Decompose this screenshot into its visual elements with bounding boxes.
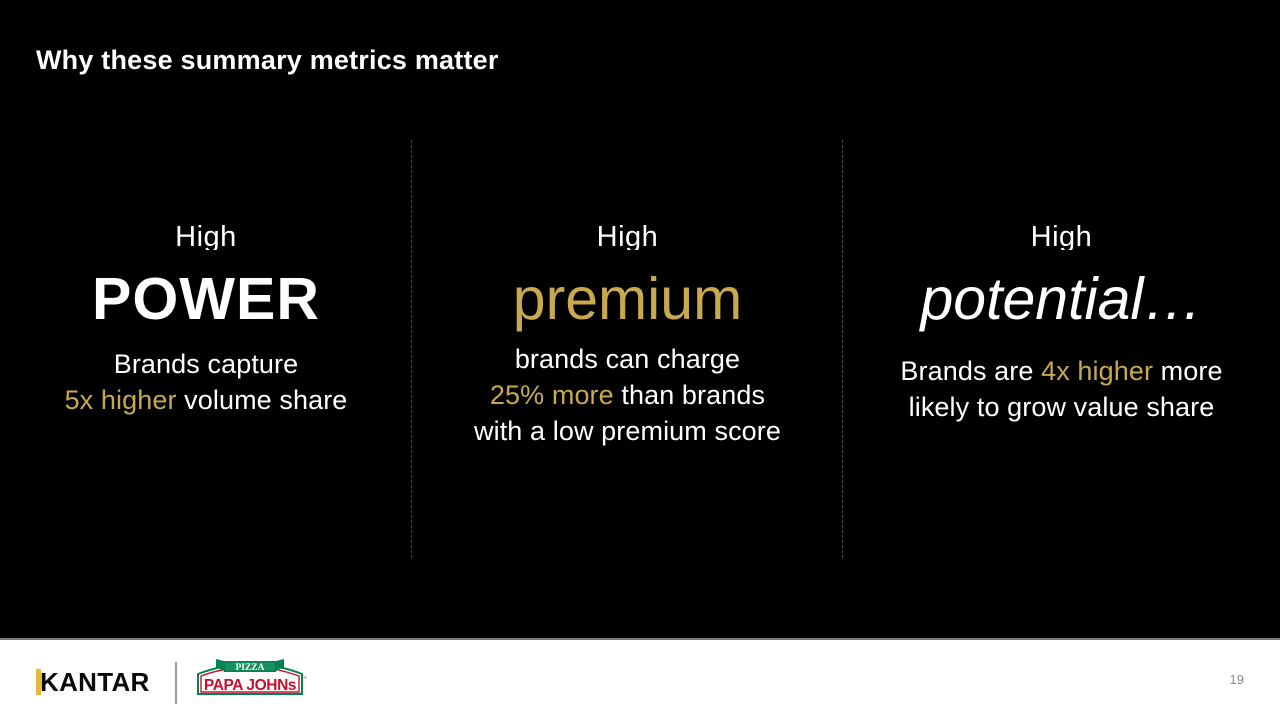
metric-body-text: Brands are [900, 356, 1041, 386]
metric-body-line: Brands capture [0, 346, 412, 382]
metric-body-line: 25% more than brands [412, 377, 843, 413]
metric-body-text: brands can charge [515, 344, 740, 374]
page-title: Why these summary metrics matter [36, 45, 499, 76]
papa-johns-logo: PIZZA PAPA JOHNs ® [190, 648, 310, 698]
metric-headline-premium: premium [412, 269, 843, 331]
metrics-columns: High POWER Brands capture 5x higher volu… [0, 140, 1280, 560]
kantar-logo: KANTAR [36, 667, 150, 697]
metric-body-potential: Brands are 4x higher more likely to grow… [843, 353, 1280, 425]
metric-body-text: likely to grow value share [909, 392, 1215, 422]
metric-body-line: likely to grow value share [843, 389, 1280, 425]
slide-canvas: Why these summary metrics matter High PO… [0, 0, 1280, 720]
metric-column-power: High POWER Brands capture 5x higher volu… [0, 140, 412, 560]
metric-accent-value: 4x higher [1041, 356, 1153, 386]
metric-eyebrow-potential: High [843, 220, 1280, 250]
metric-body-line: brands can charge [412, 341, 843, 377]
metric-column-potential: High potential… Brands are 4x higher mor… [843, 140, 1280, 560]
metric-body-line: with a low premium score [412, 413, 843, 449]
metric-body-premium: brands can charge 25% more than brands w… [412, 341, 843, 449]
metric-body-text: than brands [614, 380, 765, 410]
logo-separator [175, 662, 177, 704]
metric-headline-power: POWER [0, 269, 412, 331]
papa-johns-banner-text: PIZZA [235, 663, 264, 673]
metric-body-line: Brands are 4x higher more [843, 353, 1280, 389]
metric-headline-potential: potential… [843, 269, 1280, 331]
metric-body-power: Brands capture 5x higher volume share [0, 346, 412, 418]
metric-accent-value: 25% more [490, 380, 614, 410]
page-number: 19 [1230, 672, 1244, 687]
metric-accent-value: 5x higher [65, 385, 177, 415]
metric-body-line: 5x higher volume share [0, 382, 412, 418]
metric-column-premium: High premium brands can charge 25% more … [412, 140, 843, 560]
metric-body-text: volume share [177, 385, 348, 415]
metric-body-text: more [1153, 356, 1223, 386]
registered-trademark-icon: ® [304, 675, 307, 680]
papa-johns-wordmark: PAPA JOHNs [204, 677, 296, 694]
kantar-wordmark: KANTAR [40, 667, 150, 698]
metric-body-text: with a low premium score [474, 416, 781, 446]
metric-eyebrow-power: High [0, 220, 412, 250]
metric-eyebrow-premium: High [412, 220, 843, 250]
metric-body-text: Brands capture [114, 349, 299, 379]
